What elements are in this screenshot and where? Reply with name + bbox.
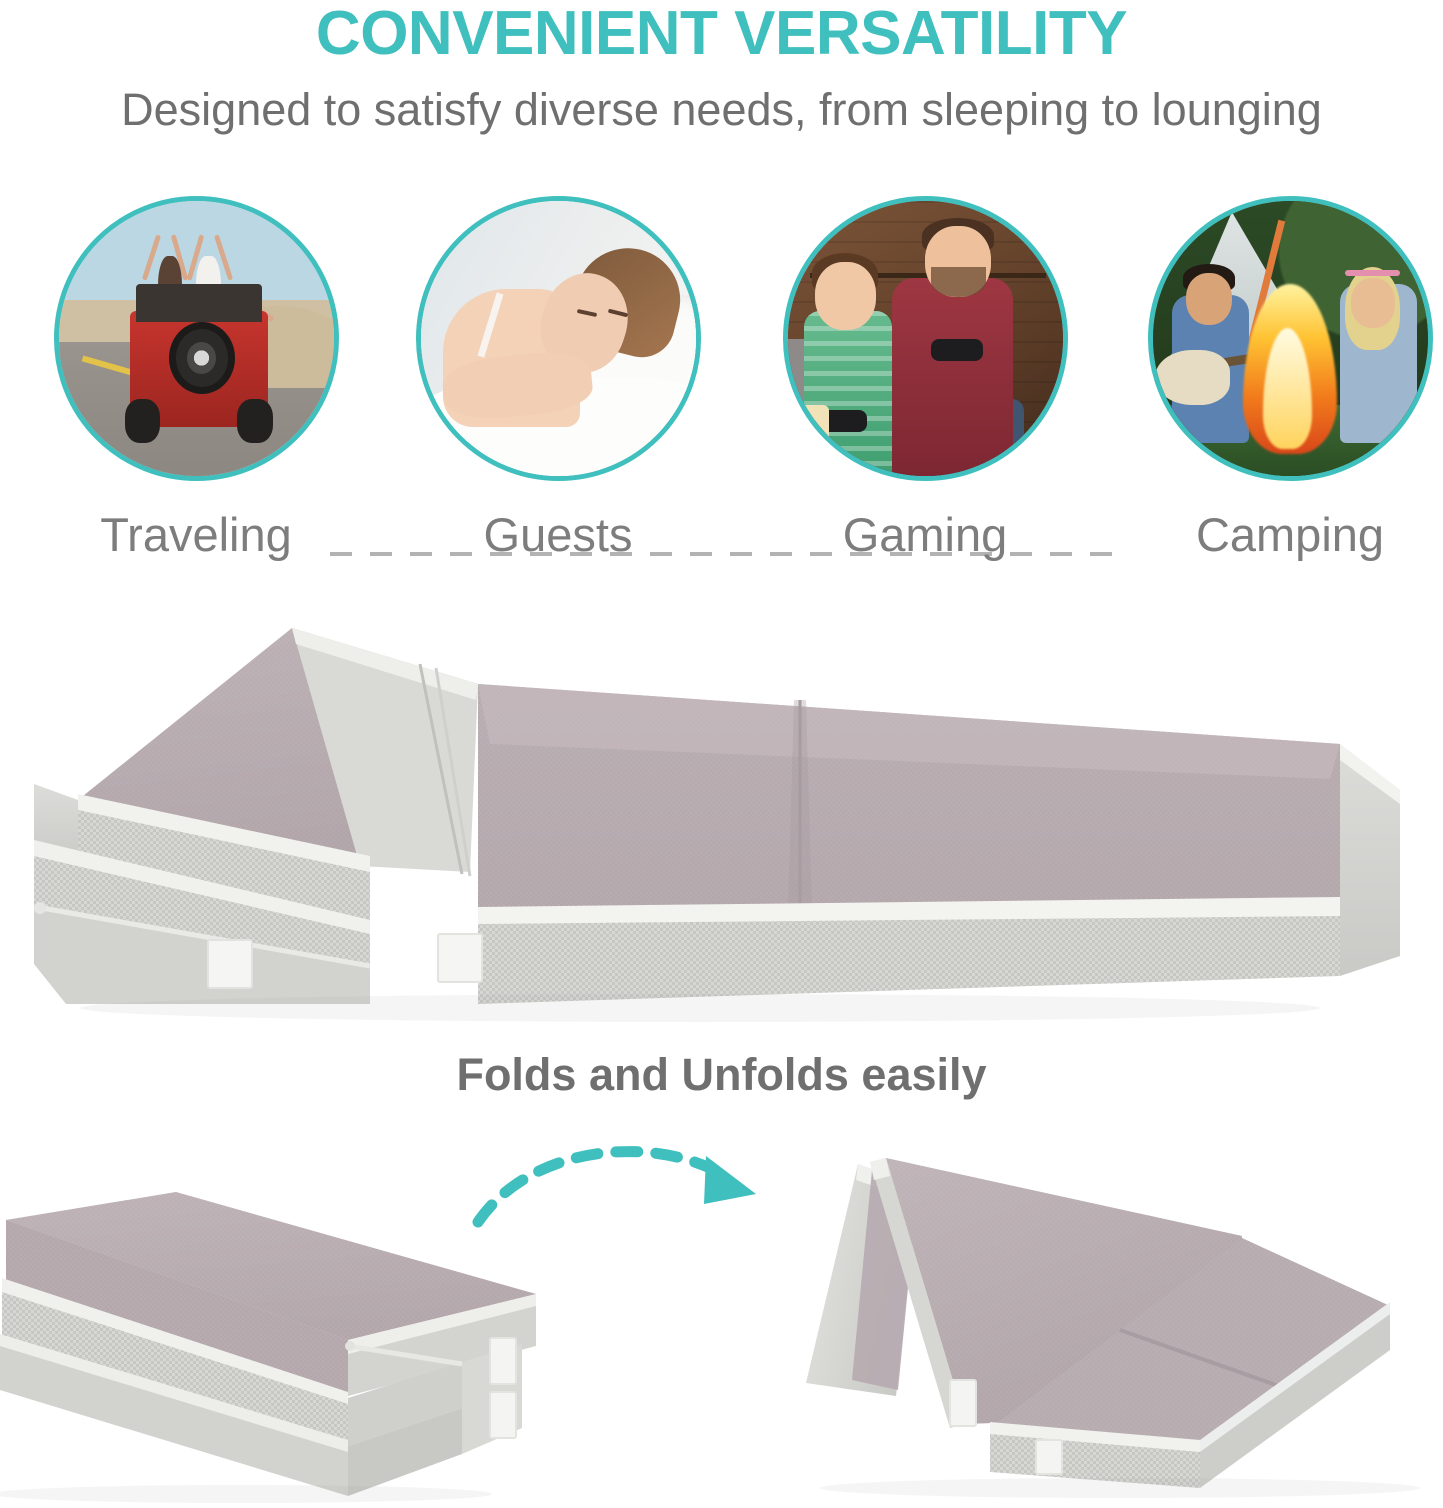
usecase-item-guests[interactable]: Guests	[408, 196, 708, 561]
usecase-item-camping[interactable]: Camping	[1140, 196, 1440, 561]
usecase-item-traveling[interactable]: Traveling	[46, 196, 346, 561]
page-title: CONVENIENT VERSATILITY	[0, 0, 1443, 66]
woman-sleeping-icon	[421, 201, 696, 476]
folds-caption: Folds and Unfolds easily	[0, 1048, 1443, 1102]
usecase-item-gaming[interactable]: Gaming	[775, 196, 1075, 561]
usecase-label-gaming: Gaming	[775, 509, 1075, 561]
usecase-circle-gaming	[783, 196, 1068, 481]
product-folded-stack-image	[0, 1178, 572, 1503]
usecase-label-traveling: Traveling	[46, 509, 346, 561]
jeep-desert-road-icon	[59, 201, 334, 476]
usecase-row: Traveling Guests	[0, 196, 1443, 596]
usecase-circle-camping	[1148, 196, 1433, 481]
usecase-label-camping: Camping	[1140, 509, 1440, 561]
hero-product-image	[0, 604, 1443, 1034]
father-son-gaming-icon	[788, 201, 1063, 476]
product-folded-tent-image	[790, 1128, 1440, 1503]
usecase-circle-traveling	[54, 196, 339, 481]
usecase-label-guests: Guests	[408, 509, 708, 561]
header: CONVENIENT VERSATILITY Designed to satis…	[0, 0, 1443, 140]
usecase-circle-guests	[416, 196, 701, 481]
page-subtitle: Designed to satisfy diverse needs, from …	[0, 80, 1443, 140]
campfire-tent-icon	[1153, 201, 1428, 476]
